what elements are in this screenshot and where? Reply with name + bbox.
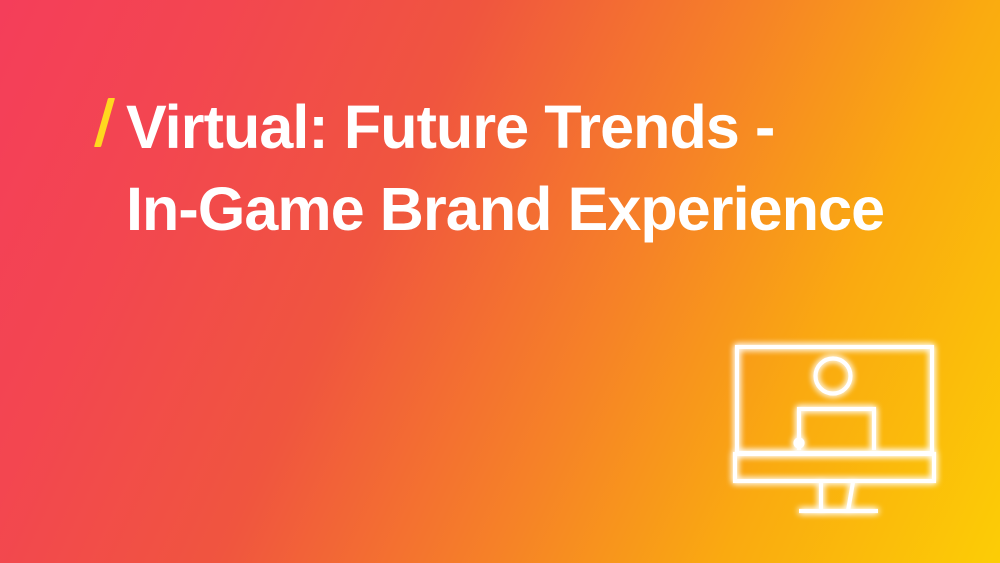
- presenter-monitor-icon: [720, 330, 952, 530]
- monitor-base-bar: [735, 454, 934, 481]
- title-block: Virtual: Future Trends - In-Game Brand E…: [86, 86, 966, 250]
- person-torso-icon: [799, 409, 874, 450]
- monitor-screen-outline: [737, 347, 932, 453]
- person-head-icon: [816, 359, 851, 394]
- monitor-stand-leg-right: [848, 482, 853, 511]
- slash-accent-icon: [86, 98, 126, 154]
- slide-canvas: Virtual: Future Trends - In-Game Brand E…: [0, 0, 1000, 563]
- page-title: Virtual: Future Trends - In-Game Brand E…: [126, 86, 884, 250]
- pointer-dot-icon: [793, 437, 804, 448]
